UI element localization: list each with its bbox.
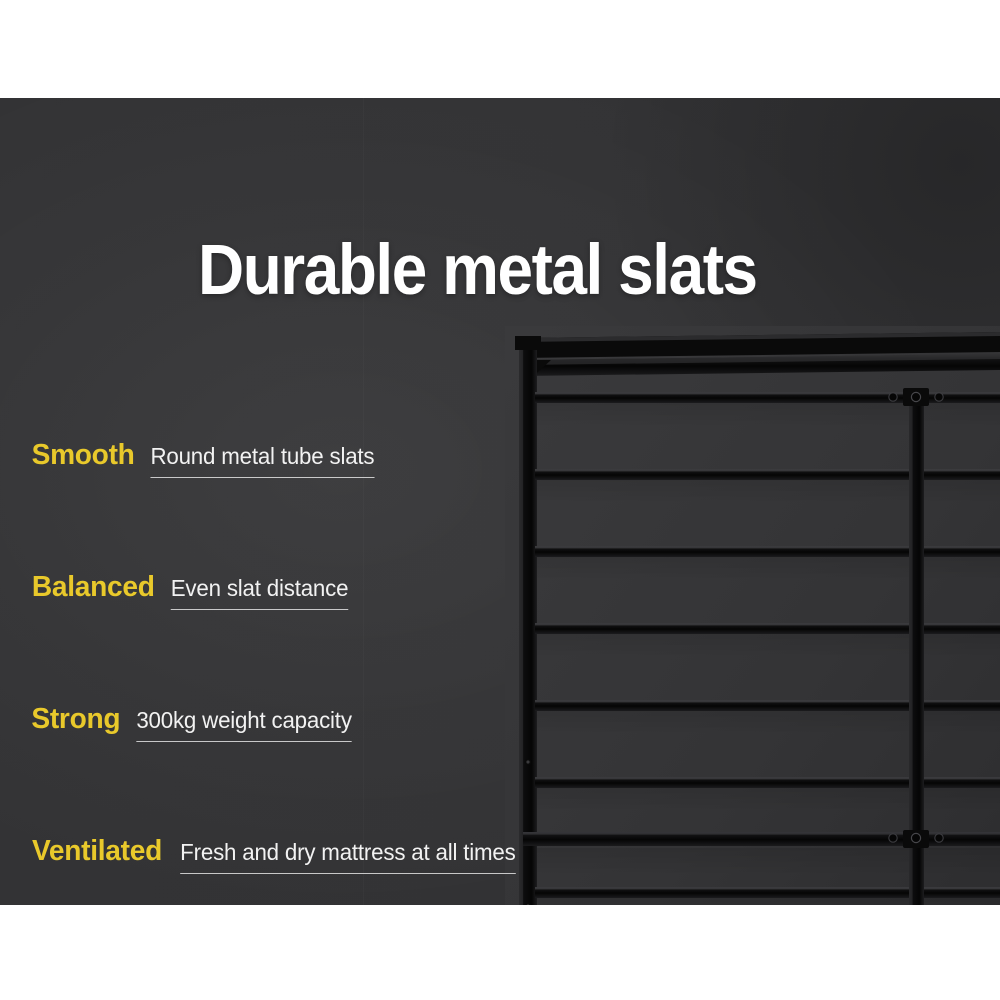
feature-label-ventilated: Ventilated [32, 834, 162, 868]
feature-label-balanced: Balanced [32, 570, 155, 604]
feature-label-strong: Strong [31, 702, 120, 736]
feature-description-balanced: Even slat distance [170, 574, 348, 610]
feature-item-smooth: Smooth Round metal tube slats [30, 438, 650, 570]
feature-item-strong: Strong 300kg weight capacity [30, 702, 650, 834]
bottom-margin [0, 905, 1000, 1000]
feature-description-ventilated: Fresh and dry mattress at all times [180, 838, 515, 874]
feature-item-ventilated: Ventilated Fresh and dry mattress at all… [30, 834, 650, 905]
product-feature-banner: Durable metal slats Smooth Round metal t… [0, 0, 1000, 1000]
page-title: Durable metal slats [198, 232, 757, 310]
dark-product-panel: Durable metal slats Smooth Round metal t… [0, 98, 1000, 905]
feature-description-smooth: Round metal tube slats [151, 442, 375, 478]
feature-label-smooth: Smooth [32, 438, 135, 472]
center-support-rail [909, 392, 924, 905]
top-margin [0, 0, 1000, 98]
feature-list: Smooth Round metal tube slats Balanced E… [30, 438, 650, 905]
feature-item-balanced: Balanced Even slat distance [30, 570, 650, 702]
feature-description-strong: 300kg weight capacity [136, 706, 351, 742]
